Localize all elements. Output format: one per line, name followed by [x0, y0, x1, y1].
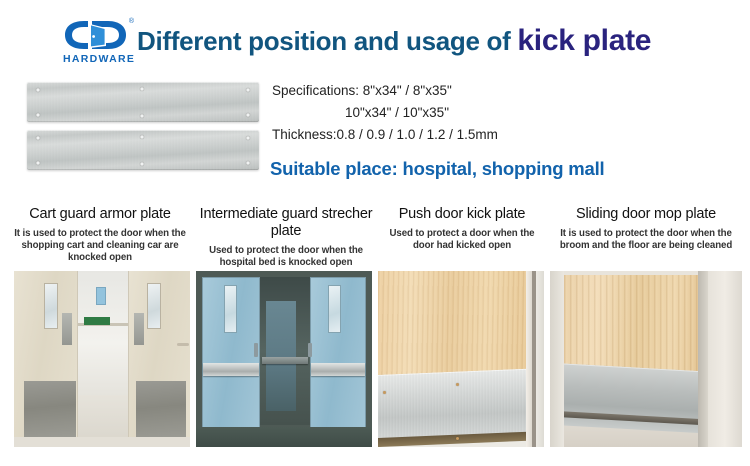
- stretcher-plate-in-photo: [311, 363, 365, 376]
- usage-title: Sliding door mop plate: [548, 206, 744, 223]
- screw-hole: [140, 135, 144, 139]
- usage-photo-cart-guard-armor-plate: [14, 271, 190, 447]
- usage-title: Intermediate guard strecher plate: [196, 206, 376, 240]
- suitable-place-text: Suitable place: hospital, shopping mall: [270, 158, 605, 180]
- logo-wordmark: HARDWARE: [63, 53, 135, 65]
- screw-hole: [246, 161, 250, 165]
- stretcher-plate-in-photo: [203, 363, 259, 376]
- screw-hole: [140, 162, 144, 166]
- spec-thickness-line: Thickness:0.8 / 0.9 / 1.0 / 1.2 / 1.5mm: [272, 124, 612, 146]
- screw-hole: [36, 113, 40, 117]
- page-title-main: Different position and usage of: [137, 26, 517, 56]
- usage-photo-intermediate-guard-strecher-plate: [196, 271, 372, 447]
- registered-mark-icon: ®: [129, 18, 134, 25]
- product-photo-kick-plates: [27, 82, 259, 170]
- usage-description: It is used to protect the door when the …: [548, 228, 744, 252]
- kick-plate-in-photo: [24, 381, 76, 439]
- screw-hole: [36, 161, 40, 165]
- screw-hole: [36, 136, 40, 140]
- spec-size-line-1: Specifications: 8"x34" / 8"x35": [272, 80, 612, 102]
- usage-description: It is used to protect the door when the …: [8, 228, 192, 264]
- screw-hole: [36, 88, 40, 92]
- screw-hole: [140, 87, 144, 91]
- usage-column-push-door-kick-plate: Push door kick plate Used to protect a d…: [378, 206, 546, 252]
- usage-title: Cart guard armor plate: [8, 206, 192, 223]
- infographic-page: ® HARDWARE Different position and usage …: [0, 0, 750, 466]
- logo-door-monogram-icon: ®: [62, 19, 134, 51]
- usage-photo-push-door-kick-plate: [378, 271, 544, 447]
- usage-description: Used to protect the door when the hospit…: [196, 245, 376, 269]
- kick-plate-in-photo: [136, 381, 186, 439]
- usage-column-intermediate-guard-strecher-plate: Intermediate guard strecher plate Used t…: [196, 206, 376, 269]
- page-title-accent: kick plate: [517, 24, 651, 57]
- screw-hole: [246, 88, 250, 92]
- specifications-block: Specifications: 8"x34" / 8"x35" 10"x34" …: [272, 80, 612, 146]
- usage-column-sliding-door-mop-plate: Sliding door mop plate It is used to pro…: [548, 206, 744, 252]
- screw-hole: [246, 136, 250, 140]
- page-title: Different position and usage of kick pla…: [137, 24, 651, 58]
- header: ® HARDWARE Different position and usage …: [0, 0, 750, 80]
- brand-logo: ® HARDWARE: [62, 19, 142, 69]
- usage-column-cart-guard-armor-plate: Cart guard armor plate It is used to pro…: [8, 206, 192, 264]
- usage-description: Used to protect a door when the door had…: [378, 228, 546, 252]
- spec-size-line-2: 10"x34" / 10"x35": [272, 102, 612, 124]
- usage-title: Push door kick plate: [378, 206, 546, 223]
- screw-hole: [140, 114, 144, 118]
- screw-hole: [246, 113, 250, 117]
- usage-photo-sliding-door-mop-plate: [550, 271, 742, 447]
